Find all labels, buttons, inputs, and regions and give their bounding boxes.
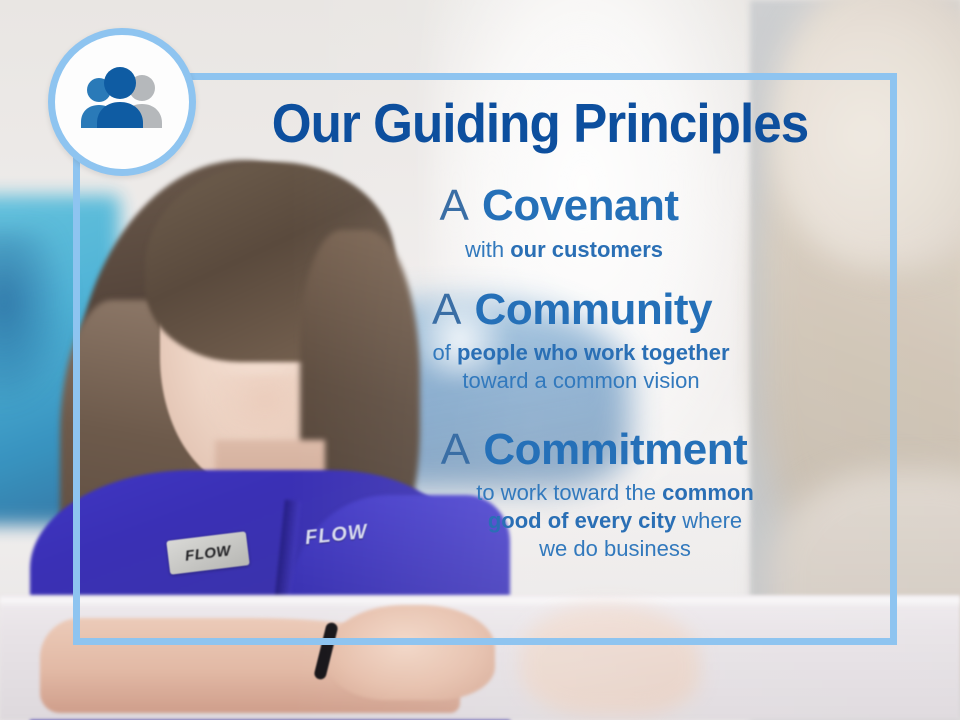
principle-keyword: Covenant [482, 181, 678, 230]
photo-customer-hand [520, 605, 700, 715]
principle-article: A [432, 285, 462, 334]
photo-display-shadow [0, 230, 70, 410]
principle-article: A [441, 425, 471, 474]
principle-keyword: Community [475, 285, 713, 334]
principle-keyword: Commitment [483, 425, 747, 474]
people-badge [48, 28, 196, 176]
principle-subtext: of people who work togethertoward a comm… [272, 339, 890, 395]
principle-subtext: with our customers [238, 236, 890, 264]
name-badge-text: FLOW [184, 542, 232, 564]
principle-covenant: A Covenant with our customers [228, 182, 890, 264]
principle-community: A Community of people who work togethert… [254, 286, 890, 396]
principle-subtext: to work toward the commongood of every c… [340, 479, 890, 563]
principle-title: A Covenant [228, 182, 890, 230]
photo-desk-edge [0, 598, 960, 608]
guiding-principles-banner: FLOW FLOW Our Guiding Principles [0, 0, 960, 720]
principle-commitment: A Commitment to work toward the commongo… [298, 426, 890, 564]
principle-article: A [439, 181, 469, 230]
principle-title: A Community [254, 286, 890, 334]
photo-employee-hands [330, 605, 495, 700]
principle-title: A Commitment [298, 426, 890, 474]
people-group-icon [74, 66, 170, 138]
principles-list: A Covenant with our customers A Communit… [250, 182, 890, 567]
page-title: Our Guiding Principles [233, 96, 847, 151]
